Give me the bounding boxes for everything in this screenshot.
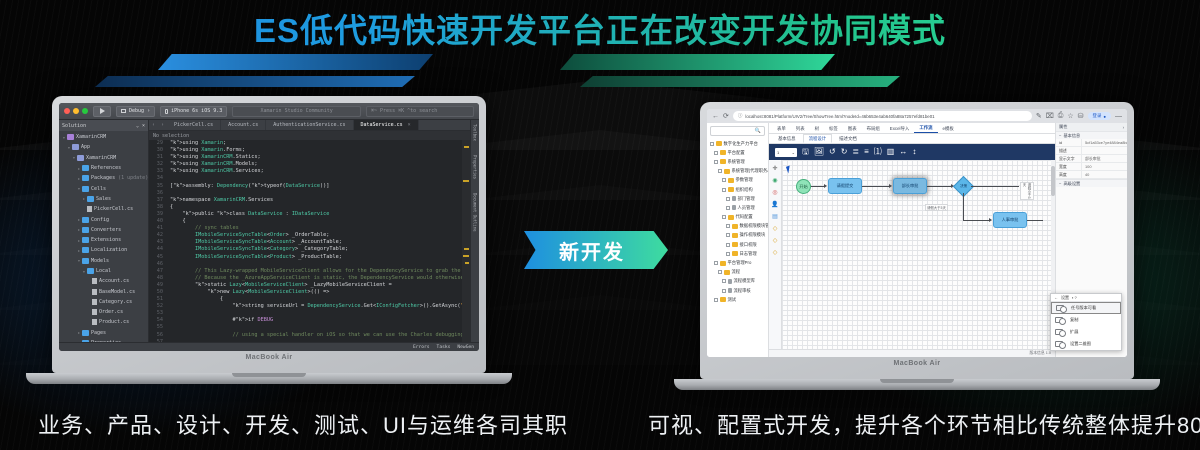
script-task-icon[interactable]: ▤ [771, 212, 780, 221]
context-menu-item[interactable]: 复制 [1051, 314, 1121, 326]
tree-item-label: 操作权限模块 [740, 232, 766, 238]
chevron-right-icon: › [147, 108, 150, 114]
solution-tree-item[interactable]: PickerCell.cs [59, 204, 148, 214]
lowcode-tab[interactable]: e模板 [938, 124, 959, 133]
laptop-brand-left: MacBook Air [59, 354, 479, 361]
align-left-icon[interactable]: ≣ [852, 148, 859, 156]
lowcode-tree-item[interactable]: 流程审核 [709, 286, 768, 295]
lowcode-sidebar: 🔍 数字化生产力平台平台配置系统管理系统管理(代理职务A4)参数管理组织结构部门… [707, 123, 769, 357]
tree-item-label: Config [91, 217, 109, 223]
solution-tree-item[interactable]: ▸Localization [59, 245, 148, 255]
lowcode-tabs-primary[interactable]: 表单列表树标签图表布局组Excel导入工作流e模板 [769, 123, 1055, 134]
lowcode-tab[interactable]: 图表 [843, 124, 862, 133]
code-line [170, 261, 462, 268]
lowcode-tree-item[interactable]: 系统管理 [709, 157, 768, 166]
flow-node-start[interactable]: 开始 [796, 179, 811, 194]
file-icon [87, 206, 92, 212]
gateway-icon[interactable]: ◇ [771, 224, 780, 233]
image-icon[interactable]: 🖼 [814, 148, 824, 156]
user-task-icon[interactable]: 👤 [771, 200, 780, 209]
property-value[interactable] [1082, 147, 1127, 154]
expand-checkbox[interactable] [718, 169, 722, 173]
shape-icon [1056, 305, 1064, 311]
tree-item-label: Pages [91, 330, 106, 336]
expand-checkbox[interactable] [726, 233, 730, 237]
code-line: "k">public "k">class DataService : IData… [170, 211, 462, 218]
lowcode-subtab[interactable]: 流程设计 [803, 134, 833, 143]
line-number: 44 [149, 246, 163, 253]
solution-tree-item[interactable]: ▸Pages [59, 328, 148, 338]
context-menu-item[interactable]: 扩展 [1051, 326, 1121, 338]
collapse-icon: − [1059, 133, 1061, 138]
tree-item-label: Category.cs [99, 299, 132, 305]
code-line: #"k">if DEBUG [170, 317, 462, 324]
folder-icon [728, 187, 734, 192]
shape-palette[interactable]: ✛ ◉ ◎ 👤 ▤ ◇ ◇ ◇ [769, 160, 782, 349]
lowcode-tab[interactable]: 标签 [824, 124, 843, 133]
context-menu-title: 设置 [1061, 295, 1069, 301]
flow-node-label: 决策 [960, 184, 967, 189]
expand-checkbox[interactable] [722, 178, 726, 182]
folder-icon [732, 233, 738, 238]
caption-left: 业务、产品、设计、开发、测试、UI与运维各司其职 [38, 408, 568, 440]
solution-tree-item[interactable]: ▸Extensions [59, 235, 148, 245]
caption-right: 可视、配置式开发，提升各个环节相比传统整体提升80%效率 [648, 408, 1200, 440]
tree-item-label: Cells [91, 186, 106, 192]
expand-checkbox[interactable] [714, 261, 718, 265]
code-line [170, 190, 462, 197]
lowcode-tab[interactable]: 列表 [791, 124, 810, 133]
zoom-select[interactable]: 1 ⌄ [775, 148, 797, 157]
lowcode-tree-item[interactable]: 流程模型库 [709, 277, 768, 286]
editor-tab-label: Account.cs [228, 122, 258, 128]
code-line: ["k">assembly: Dependency("k">typeof(Dat… [170, 183, 462, 190]
code-line [170, 324, 462, 331]
line-number: 47 [149, 268, 163, 275]
context-menu-item-label: 设置二维图 [1070, 341, 1091, 347]
file-icon [92, 299, 97, 305]
lowcode-tree-item[interactable]: 部门管理 [709, 194, 768, 203]
laptop-lid: Debug › iPhone 6s iOS 9.3 Xamarin Studio… [52, 96, 486, 373]
solution-tree-item[interactable]: ▾Cells [59, 183, 148, 193]
editor-tabbar[interactable]: ‹›PickerCell.csAccount.csAuthenticationS… [149, 120, 470, 131]
flow-connector [811, 186, 825, 187]
lowcode-tree-item[interactable]: 代码配置 [709, 213, 768, 222]
solution-tree-item[interactable]: ▸Sales [59, 194, 148, 204]
line-number: 42 [149, 232, 163, 239]
accent-bar-blue [158, 54, 433, 70]
tree-item-label: 接口权限 [740, 242, 757, 248]
tree-item-label: 日志管理 [740, 251, 757, 257]
lowcode-tabs-secondary[interactable]: 基本信息流程设计描述文档 [769, 134, 1055, 144]
line-number: 35 [149, 183, 163, 190]
tree-item-label: 部门管理 [738, 196, 755, 202]
flow-node-hr[interactable]: 人事审批 [993, 212, 1027, 228]
sidebar-tab-document-outline[interactable]: Document Outline [473, 193, 478, 232]
line-number: 51 [149, 296, 163, 303]
code-line: IMobileServiceSyncTable<Order> _OrderTab… [170, 232, 462, 239]
flow-node-label: 开始 [799, 184, 807, 190]
tree-item-label: 系统管理 [728, 159, 745, 165]
minimize-icon[interactable] [73, 108, 79, 114]
property-row[interactable]: id5cf1a53ce7ye4884ea8b8864217d2cef [1056, 139, 1127, 147]
window-traffic-lights[interactable] [64, 108, 88, 114]
tree-item-label: 流程模型库 [734, 278, 755, 284]
solution-tree[interactable]: ▾XamarinCRM▾App▾XamarinCRM▸References▸Pa… [59, 131, 148, 342]
align-top-icon[interactable]: ⑴ [874, 148, 882, 156]
back-icon[interactable]: ← [712, 113, 719, 120]
gateway2-icon[interactable]: ◇ [771, 236, 780, 245]
start-circle-icon[interactable]: ◉ [771, 176, 780, 185]
line-number: 53 [149, 310, 163, 317]
folder-icon [77, 155, 84, 161]
end-circle-icon[interactable]: ◎ [771, 188, 780, 197]
code-line: "k">string serviceUrl = DependencyServic… [170, 303, 462, 310]
lowcode-tree-item[interactable]: 接口权限 [709, 240, 768, 249]
flow-connector [862, 186, 890, 187]
ide-search-input[interactable]: ⌘~ Press ⌘K ^to search [366, 106, 474, 117]
property-row[interactable]: 宽度100 [1056, 163, 1127, 171]
tree-item-label: Models [91, 258, 109, 264]
code-line: // using a special handler on iOS so tha… [170, 332, 462, 339]
editor-tab[interactable]: PickerCell.cs [167, 120, 221, 130]
editor-minimap[interactable] [462, 140, 470, 342]
line-number: 52 [149, 303, 163, 310]
property-row[interactable]: 高度40 [1056, 171, 1127, 179]
lowcode-tree-item[interactable]: 流程 [709, 268, 768, 277]
lowcode-tree-item[interactable]: 组织结构 [709, 185, 768, 194]
tree-item-label: PickerCell.cs [94, 206, 133, 212]
code-line: IMobileServiceSyncTable<Category> _Categ… [170, 246, 462, 253]
accent-bar-green-dark [580, 76, 900, 87]
code-line: // This Lazy-wrapped MobileServiceClient… [170, 268, 462, 275]
tree-item-label: Product.cs [99, 319, 129, 325]
expand-checkbox[interactable] [722, 289, 726, 293]
expand-checkbox[interactable] [726, 243, 730, 247]
flow-connector [963, 193, 964, 221]
chart-icon[interactable]: ▥ [887, 148, 895, 156]
flow-edge-label-2: 请假大于3天 [925, 204, 948, 211]
code-line: "k">static Lazy<MobileServiceClient> _La… [170, 282, 462, 289]
solution-tree-item[interactable]: ▾XamarinCRM [59, 132, 148, 142]
tree-item-label: Order.cs [99, 309, 123, 315]
star-icon[interactable]: ☆ [1067, 112, 1073, 120]
chevron-right-icon[interactable]: › [1123, 125, 1124, 130]
context-menu-header: ← 设置 ▪ ? [1051, 294, 1121, 302]
expand-checkbox[interactable] [714, 151, 718, 155]
ide-toolbar: Debug › iPhone 6s iOS 9.3 Xamarin Studio… [59, 103, 479, 120]
folder-icon [87, 268, 94, 274]
lowcode-tree-item[interactable]: 数字化生产力平台 [709, 139, 768, 148]
mouse-cursor-icon [786, 166, 792, 174]
ide-status-bar: Errors Tasks NewGen [59, 342, 479, 351]
line-number-gutter: 2930313233343536373839404142434445464748… [149, 140, 166, 342]
laptop-base-left [26, 373, 512, 384]
expand-checkbox[interactable] [726, 252, 730, 256]
phone-icon [165, 109, 168, 114]
lowcode-tree-item[interactable]: 日志管理 [709, 249, 768, 258]
file-icon [732, 196, 736, 201]
share-icon[interactable]: ⎙ [1058, 112, 1064, 120]
sidebar-tab-properties[interactable]: Properties [473, 155, 478, 179]
status-tasks[interactable]: Tasks [437, 345, 451, 350]
property-key: 描述 [1056, 147, 1082, 154]
accent-bar-green [560, 54, 835, 70]
close-icon[interactable] [64, 108, 70, 114]
flow-node-label: 部长审批 [902, 183, 919, 189]
expand-checkbox[interactable] [726, 224, 730, 228]
folder-icon [720, 150, 726, 155]
flow-arrowhead [989, 218, 992, 222]
lowcode-tree-item[interactable]: 数据权限模块管理 [709, 222, 768, 231]
code-text[interactable]: "k">using Xamarin;"k">using Xamarin.Form… [166, 140, 462, 342]
nav-forward-icon[interactable]: › [158, 122, 167, 128]
line-number: 45 [149, 254, 163, 261]
configuration-selector[interactable]: Debug › [116, 106, 155, 117]
lowcode-tab[interactable]: Excel导入 [885, 124, 915, 133]
code-line: "k">new Lazy<MobileServiceClient>(() => [170, 289, 462, 296]
editor-tab-label: AuthenticationService.cs [273, 122, 345, 128]
nav-back-icon[interactable]: ‹ [149, 122, 158, 128]
laptop-lid: ← ⟳ ⓘ localhost:8081/Platform/UIV2/Tree/… [700, 102, 1134, 379]
expand-checkbox[interactable] [710, 142, 714, 146]
flow-node-label: 请假提交 [837, 183, 854, 189]
tree-item-label: 数据权限模块管理 [740, 223, 769, 229]
properties-section-advanced[interactable]: − 高级设置 [1056, 179, 1127, 187]
laptop-screen-ide: Debug › iPhone 6s iOS 9.3 Xamarin Studio… [59, 103, 479, 351]
line-number: 33 [149, 168, 163, 175]
solution-tree-item[interactable]: Category.cs [59, 297, 148, 307]
property-value[interactable]: 100 [1082, 163, 1127, 170]
solution-tree-item[interactable]: ▸Config [59, 214, 148, 224]
close-icon[interactable]: × [408, 122, 411, 128]
line-number: 31 [149, 154, 163, 161]
file-icon [728, 288, 732, 293]
code-line: // Because the _AzureAppServiceClient is… [170, 275, 462, 282]
search-icon: 🔍 [755, 128, 761, 134]
solution-tree-item[interactable]: ▸References [59, 163, 148, 173]
solution-tree-item[interactable]: ▾XamarinCRM [59, 153, 148, 163]
code-line [170, 175, 462, 182]
solution-tree-item[interactable]: Account.cs [59, 276, 148, 286]
address-bar[interactable]: ⓘ localhost:8081/Platform/UIV2/Tree/Show… [733, 111, 1032, 121]
tree-item-label: Sales [96, 196, 111, 202]
line-number: 30 [149, 147, 163, 154]
pane-pin-icon[interactable]: ⌄ × [136, 123, 145, 129]
folder-icon [720, 261, 726, 266]
flow-arrowhead [824, 184, 827, 188]
property-key: 宽度 [1056, 163, 1082, 170]
undo-icon[interactable]: ↺ [829, 148, 836, 156]
tree-item-label: 参数管理 [736, 177, 753, 183]
lowcode-subtab[interactable]: 基本信息 [772, 134, 802, 143]
expand-checkbox[interactable] [726, 206, 730, 210]
lowcode-tree-item[interactable]: 人员管理 [709, 203, 768, 212]
context-menu-item[interactable]: 设置二维图 [1051, 338, 1121, 350]
expand-checkbox[interactable] [726, 197, 730, 201]
tree-item-label: Account.cs [99, 278, 129, 284]
flow-canvas[interactable]: 开始 请假提交 部长审批 [782, 160, 1051, 349]
lowcode-main: 表单列表树标签图表布局组Excel导入工作流e模板 基本信息流程设计描述文档 1… [769, 123, 1055, 357]
device-selector[interactable]: iPhone 6s iOS 9.3 [160, 106, 227, 117]
file-icon [92, 278, 97, 284]
expand-checkbox[interactable] [722, 279, 726, 283]
line-number: 39 [149, 211, 163, 218]
plus-icon[interactable]: ✛ [771, 164, 780, 173]
editor-tab[interactable]: DataService.cs× [354, 120, 419, 130]
folder-icon [82, 186, 89, 192]
tree-item-label: XamarinCRM [86, 155, 116, 161]
tree-item-label: 平台配置 [728, 150, 745, 156]
line-number: 29 [149, 140, 163, 147]
tree-item-label: References [91, 165, 121, 171]
folder-icon [716, 141, 722, 146]
status-newgen[interactable]: NewGen [457, 345, 474, 350]
property-value[interactable]: 5cf1a53ce7ye4884ea8b8864217d2cef [1082, 139, 1127, 146]
lowcode-tree-item[interactable]: 参数管理 [709, 176, 768, 185]
property-value[interactable]: 40 [1082, 171, 1127, 178]
folder-icon [82, 227, 89, 233]
accent-bar-blue-dark [95, 76, 415, 87]
save-icon[interactable]: 🖫 [802, 148, 809, 156]
lowcode-tree-item[interactable]: 测试 [709, 295, 768, 304]
folder-icon [82, 165, 89, 171]
line-number: 36 [149, 190, 163, 197]
translate-icon[interactable]: ⌧ [1046, 112, 1054, 120]
expand-checkbox[interactable] [714, 298, 718, 302]
line-number: 37 [149, 197, 163, 204]
lowcode-tab[interactable]: 布局组 [862, 124, 885, 133]
context-menu-items[interactable]: 任号版本可看复制扩展设置二维图 [1051, 302, 1121, 350]
reload-icon[interactable]: ⟳ [723, 112, 729, 120]
back-icon[interactable]: ← [1054, 295, 1058, 300]
configuration-label: Debug [129, 108, 144, 114]
lowcode-subtab[interactable]: 描述文档 [833, 134, 863, 143]
line-number: 38 [149, 204, 163, 211]
gateway3-icon[interactable]: ◇ [771, 248, 780, 257]
code-line: "k">using XamarinCRM.Services; [170, 168, 462, 175]
solution-tree-item[interactable]: ▸Packages (1 update) [59, 173, 148, 183]
lowcode-tree-item[interactable]: 平台管理Pro [709, 258, 768, 267]
lowcode-search-input[interactable]: 🔍 [710, 126, 765, 136]
run-button[interactable] [93, 106, 111, 117]
solution-tree-item[interactable]: ▾Models [59, 256, 148, 266]
folder-icon [72, 144, 79, 150]
lowcode-tree-item[interactable]: 操作权限模块 [709, 231, 768, 240]
profile-label: 登录 [1093, 113, 1102, 119]
property-row[interactable]: 描述 [1056, 147, 1127, 155]
code-line: "k">namespace XamarinCRM.Services [170, 197, 462, 204]
flow-edge-label-1: 请假小于3天 [1020, 182, 1034, 200]
code-line [170, 339, 462, 342]
lowcode-tree-item[interactable]: 平台配置 [709, 148, 768, 157]
more-icon[interactable]: ▪ ? [1072, 295, 1077, 300]
context-menu[interactable]: ← 设置 ▪ ? 任号版本可看复制扩展设置二维图 [1050, 293, 1122, 351]
extensions-icon[interactable]: ⛁ [1078, 112, 1084, 120]
folder-icon [732, 242, 738, 247]
flow-node-manager[interactable]: 部长审批 [893, 178, 927, 194]
code-line: "k">using Xamarin; [170, 140, 462, 147]
flow-connector [963, 220, 990, 221]
editor-tab-label: DataService.cs [361, 122, 403, 128]
title-accent-bars [0, 54, 1200, 96]
redo-icon[interactable]: ↻ [841, 148, 848, 156]
property-value[interactable]: 部长审批 [1082, 155, 1127, 162]
device-label: iPhone 6s iOS 9.3 [171, 108, 222, 114]
editor-right-sidebar[interactable]: ToolboxPropertiesDocument Outline [470, 120, 479, 342]
line-number: 56 [149, 332, 163, 339]
editor-tab[interactable]: AuthenticationService.cs [266, 120, 353, 130]
tree-item-label: 流程审核 [734, 288, 751, 294]
maximize-icon[interactable] [82, 108, 88, 114]
minimize-icon[interactable]: — [1115, 113, 1122, 120]
file-icon [728, 279, 732, 284]
solution-tree-item[interactable]: ▾Local [59, 266, 148, 276]
tree-item-label: Localization [91, 247, 127, 253]
laptop-screen-browser: ← ⟳ ⓘ localhost:8081/Platform/UIV2/Tree/… [707, 109, 1127, 357]
ide-body: Solution ⌄ × ▾XamarinCRM▾App▾XamarinCRM▸… [59, 120, 479, 342]
url-text: localhost:8081/Platform/UIV2/Tree/ShowTr… [745, 114, 934, 119]
context-menu-item[interactable]: 任号版本可看 [1051, 302, 1121, 314]
profile-pill[interactable]: 登录 ● [1088, 112, 1111, 120]
context-menu-item-label: 扩展 [1070, 329, 1078, 335]
lowcode-tab[interactable]: 工作流 [914, 124, 937, 133]
flow-node-submit[interactable]: 请假提交 [828, 178, 862, 194]
solution-tree-item[interactable]: BaseModel.cs [59, 286, 148, 296]
solution-tree-item[interactable]: ▸Converters [59, 225, 148, 235]
lowcode-tab[interactable]: 表单 [772, 124, 791, 133]
line-number: 34 [149, 175, 163, 182]
solution-tree-item[interactable]: ▾App [59, 142, 148, 152]
laptop-brand-right: MacBook Air [707, 360, 1127, 367]
expand-checkbox[interactable] [722, 215, 726, 219]
folder-icon [82, 258, 89, 264]
status-errors[interactable]: Errors [413, 345, 430, 350]
sidebar-tab-toolbox[interactable]: Toolbox [473, 124, 478, 141]
code-line: IMobileServiceSyncTable<Account> _Accoun… [170, 239, 462, 246]
line-number: 40 [149, 218, 163, 225]
align-right-icon[interactable]: ≡ [864, 148, 869, 156]
solution-tree-item[interactable]: Order.cs [59, 307, 148, 317]
folder-icon [87, 196, 94, 202]
context-menu-item-label: 复制 [1070, 317, 1078, 323]
designer-toolbar: 1 ⌄ 🖫 🖼 ↺ ↻ ≣ ≡ ⑴ ▥ ↔ ↕ [769, 144, 1055, 160]
lowcode-module-tree[interactable]: 数字化生产力平台平台配置系统管理系统管理(代理职务A4)参数管理组织结构部门管理… [707, 139, 768, 357]
info-icon: ⓘ [738, 113, 743, 119]
editor-tab[interactable]: Account.cs [221, 120, 266, 130]
properties-section-basic[interactable]: − 基本信息 [1056, 131, 1127, 139]
flow-arrowhead [889, 184, 892, 188]
code-line [170, 310, 462, 317]
lowcode-tree-item[interactable]: 系统管理(代理职务A4) [709, 167, 768, 176]
line-number: 50 [149, 289, 163, 296]
section-label: 基本信息 [1063, 133, 1080, 139]
lowcode-tab[interactable]: 树 [810, 124, 824, 133]
edit-icon[interactable]: ✎ [1036, 112, 1042, 120]
line-number: 32 [149, 161, 163, 168]
distribute-v-icon[interactable]: ↕ [912, 148, 916, 156]
property-row[interactable]: 显示文字部长审批 [1056, 155, 1127, 163]
expand-checkbox[interactable] [722, 188, 726, 192]
expand-checkbox[interactable] [714, 160, 718, 164]
solution-pane-header: Solution ⌄ × [59, 120, 148, 131]
expand-checkbox[interactable] [718, 270, 722, 274]
code-line: "k">using Xamarin.Forms; [170, 147, 462, 154]
solution-tree-item[interactable]: Product.cs [59, 317, 148, 327]
flow-connector [971, 186, 1019, 187]
distribute-h-icon[interactable]: ↔ [899, 148, 907, 156]
code-editor[interactable]: 2930313233343536373839404142434445464748… [149, 140, 470, 342]
